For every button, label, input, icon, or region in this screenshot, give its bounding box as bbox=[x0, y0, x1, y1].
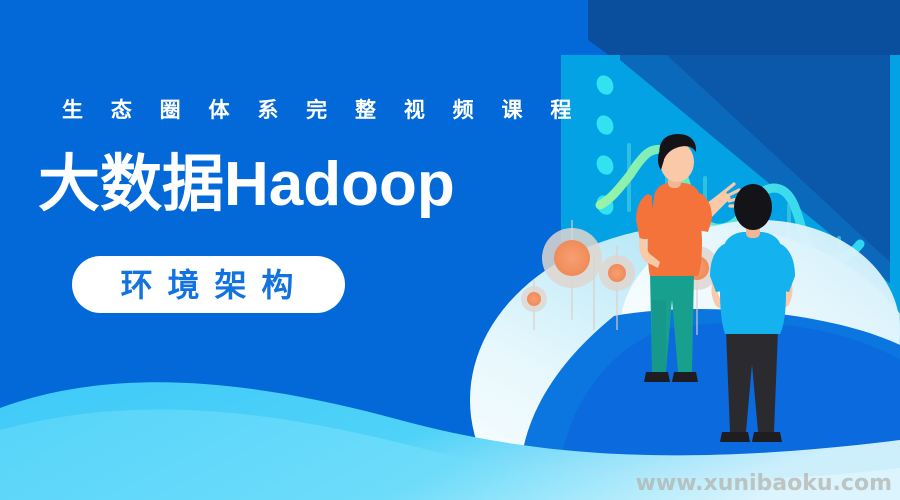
site-watermark: www.xunibaoku.com bbox=[636, 471, 892, 496]
pill-label: 环 境 架 构 bbox=[121, 269, 297, 301]
banner-main-title: 大数据Hadoop bbox=[38, 152, 455, 217]
environment-architecture-pill[interactable]: 环 境 架 构 bbox=[72, 256, 345, 313]
hadoop-course-banner: 生 态 圈 体 系 完 整 视 频 课 程 大数据Hadoop 环 境 架 构 … bbox=[0, 0, 900, 500]
banner-subtitle: 生 态 圈 体 系 完 整 视 频 课 程 bbox=[62, 100, 582, 121]
text-layer: 生 态 圈 体 系 完 整 视 频 课 程 大数据Hadoop 环 境 架 构 … bbox=[0, 0, 900, 500]
